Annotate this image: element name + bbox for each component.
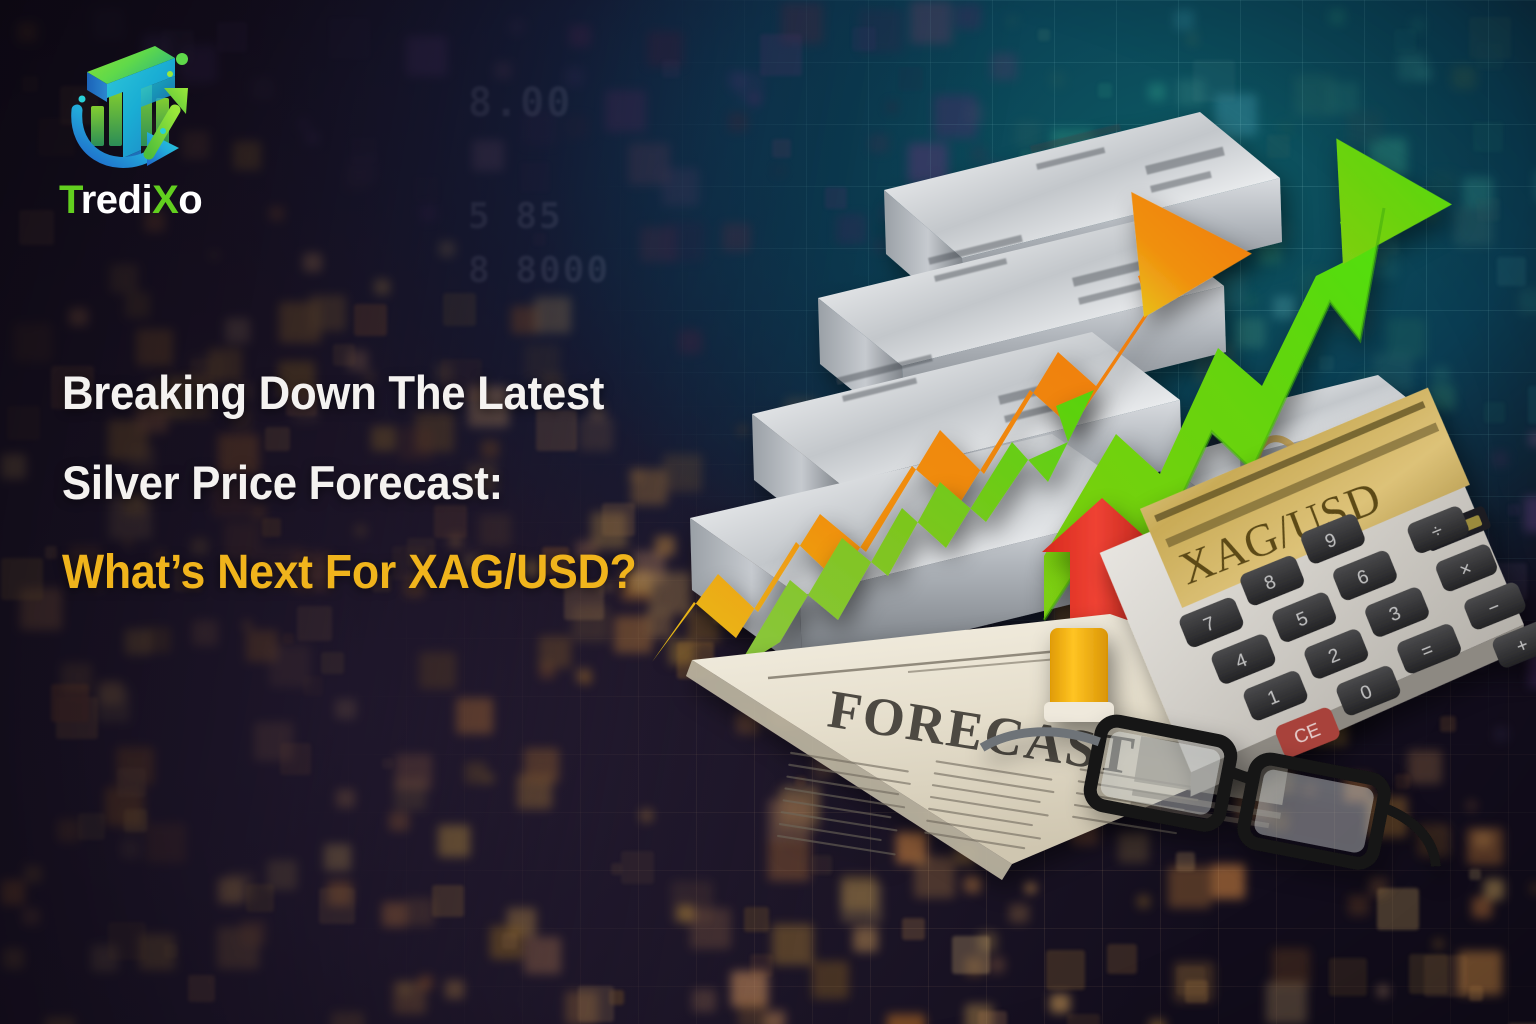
headline-line-1: Breaking Down The Latest	[62, 348, 732, 438]
yellow-highlighter	[1044, 628, 1114, 722]
brand-wordmark-part-2: redi	[81, 178, 152, 222]
brand-wordmark-part-3: X	[152, 178, 178, 222]
headline-line-3: What’s Next For XAG/USD?	[62, 528, 732, 618]
brand-wordmark: TrediXo	[59, 180, 255, 220]
brand-logo[interactable]: TrediXo	[55, 32, 255, 220]
headline-line-2: Silver Price Forecast:	[62, 438, 732, 528]
headline-block: Breaking Down The Latest Silver Price Fo…	[62, 348, 782, 618]
brand-wordmark-part-1: T	[59, 178, 81, 222]
brand-wordmark-part-4: o	[178, 178, 202, 222]
trendline-letter-t-icon	[63, 32, 199, 178]
banner-canvas: 8.00 5 85 8 8000	[0, 0, 1536, 1024]
